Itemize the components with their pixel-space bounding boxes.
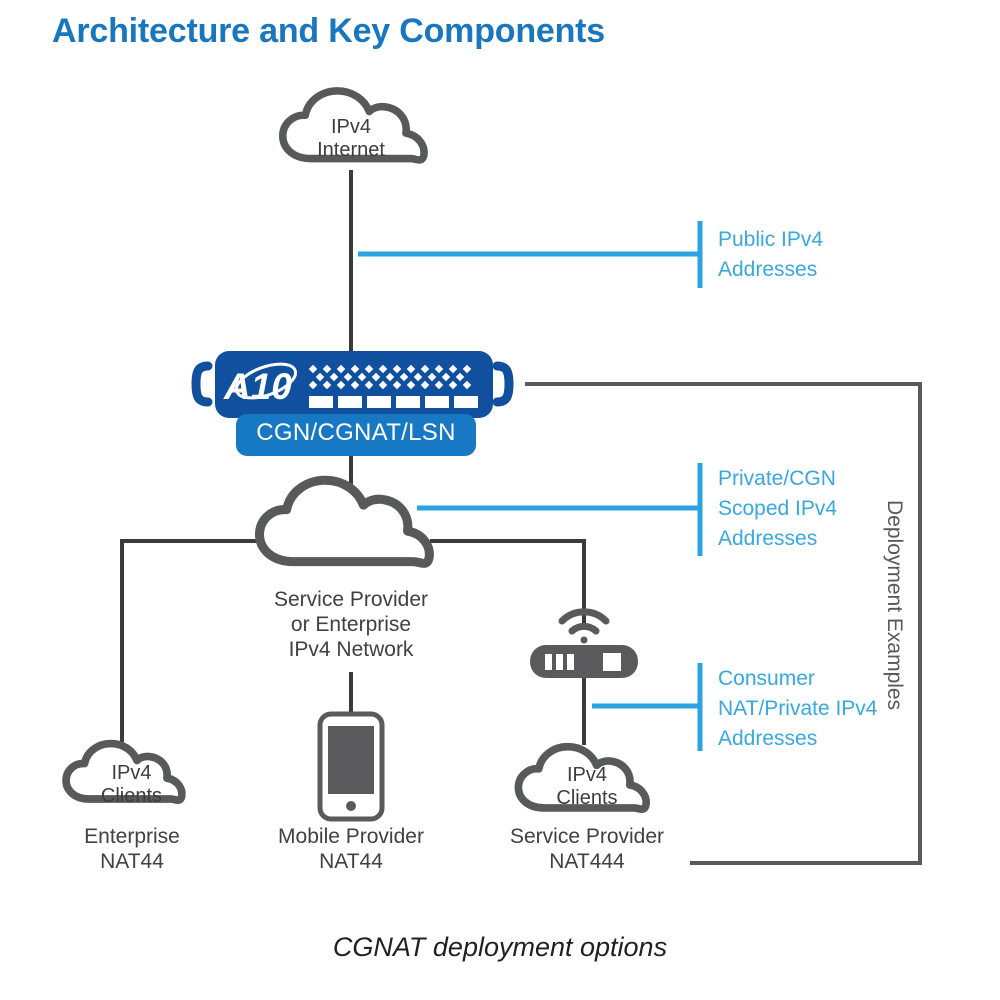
sp-clients-cloud-label: IPv4Clients bbox=[517, 764, 657, 810]
mobile-client-caption: Mobile ProviderNAT44 bbox=[261, 824, 441, 874]
enterprise-clients-cloud-label: IPv4Clients bbox=[64, 762, 199, 808]
annotation-public-ipv4: Public IPv4Addresses bbox=[718, 225, 823, 285]
a10-badge-label: CGN/CGNAT/LSN bbox=[236, 419, 476, 447]
diagram-canvas: Architecture and Key Components bbox=[0, 0, 1000, 1000]
annotation-consumer-nat: ConsumerNAT/Private IPv4Addresses bbox=[718, 664, 878, 754]
annotation-private-cgn: Private/CGNScoped IPv4Addresses bbox=[718, 464, 837, 554]
core-cloud-caption: Service Provideror EnterpriseIPv4 Networ… bbox=[231, 587, 471, 662]
svg-text:A10: A10 bbox=[223, 366, 292, 407]
mobile-phone-shape bbox=[320, 714, 382, 819]
enterprise-clients-caption: EnterpriseNAT44 bbox=[42, 824, 222, 874]
figure-caption: CGNAT deployment options bbox=[0, 932, 1000, 963]
deployment-examples-label: Deployment Examples bbox=[882, 500, 906, 800]
internet-cloud-label: IPv4Internet bbox=[281, 116, 421, 162]
annotation-leaders bbox=[358, 221, 700, 751]
sp-clients-caption: Service ProviderNAT444 bbox=[487, 824, 687, 874]
core-cloud-shape bbox=[260, 480, 430, 563]
